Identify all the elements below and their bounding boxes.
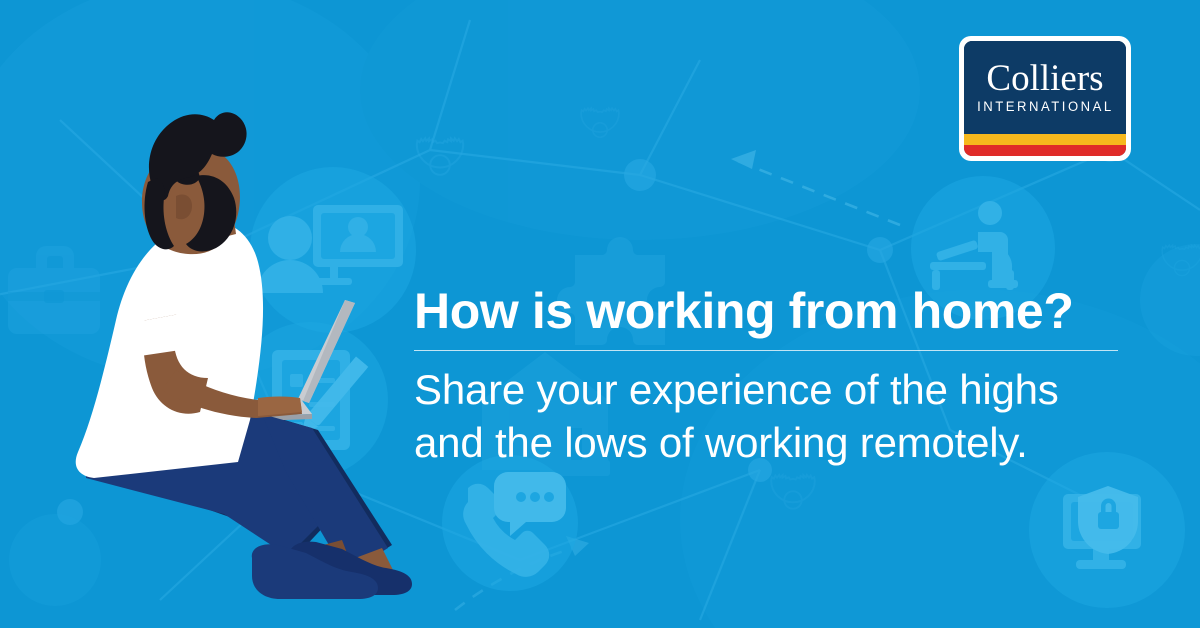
- subheadline-line-1: Share your experience of the highs: [414, 363, 1130, 416]
- monitor-shield-lock-icon: [1029, 452, 1185, 608]
- headline: How is working from home?: [414, 282, 1130, 340]
- subheadline-line-2: and the lows of working remotely.: [414, 416, 1130, 469]
- headline-divider: [414, 350, 1118, 351]
- subheadline: Share your experience of the highs and t…: [414, 363, 1130, 469]
- logo-navy-field: Colliers INTERNATIONAL: [964, 41, 1126, 134]
- logo-wordmark: Colliers: [986, 60, 1103, 98]
- logo-stripe-red: [964, 145, 1126, 156]
- message-block: How is working from home? Share your exp…: [414, 282, 1130, 469]
- colliers-international-logo: Colliers INTERNATIONAL: [959, 36, 1131, 161]
- logo-subword: INTERNATIONAL: [977, 99, 1114, 114]
- logo-inner-panel: Colliers INTERNATIONAL: [964, 41, 1126, 156]
- promo-banner: Colliers INTERNATIONAL How is working fr…: [0, 0, 1200, 628]
- logo-stripe-yellow: [964, 134, 1126, 145]
- seated-man-with-laptop-illustration: [0, 0, 470, 628]
